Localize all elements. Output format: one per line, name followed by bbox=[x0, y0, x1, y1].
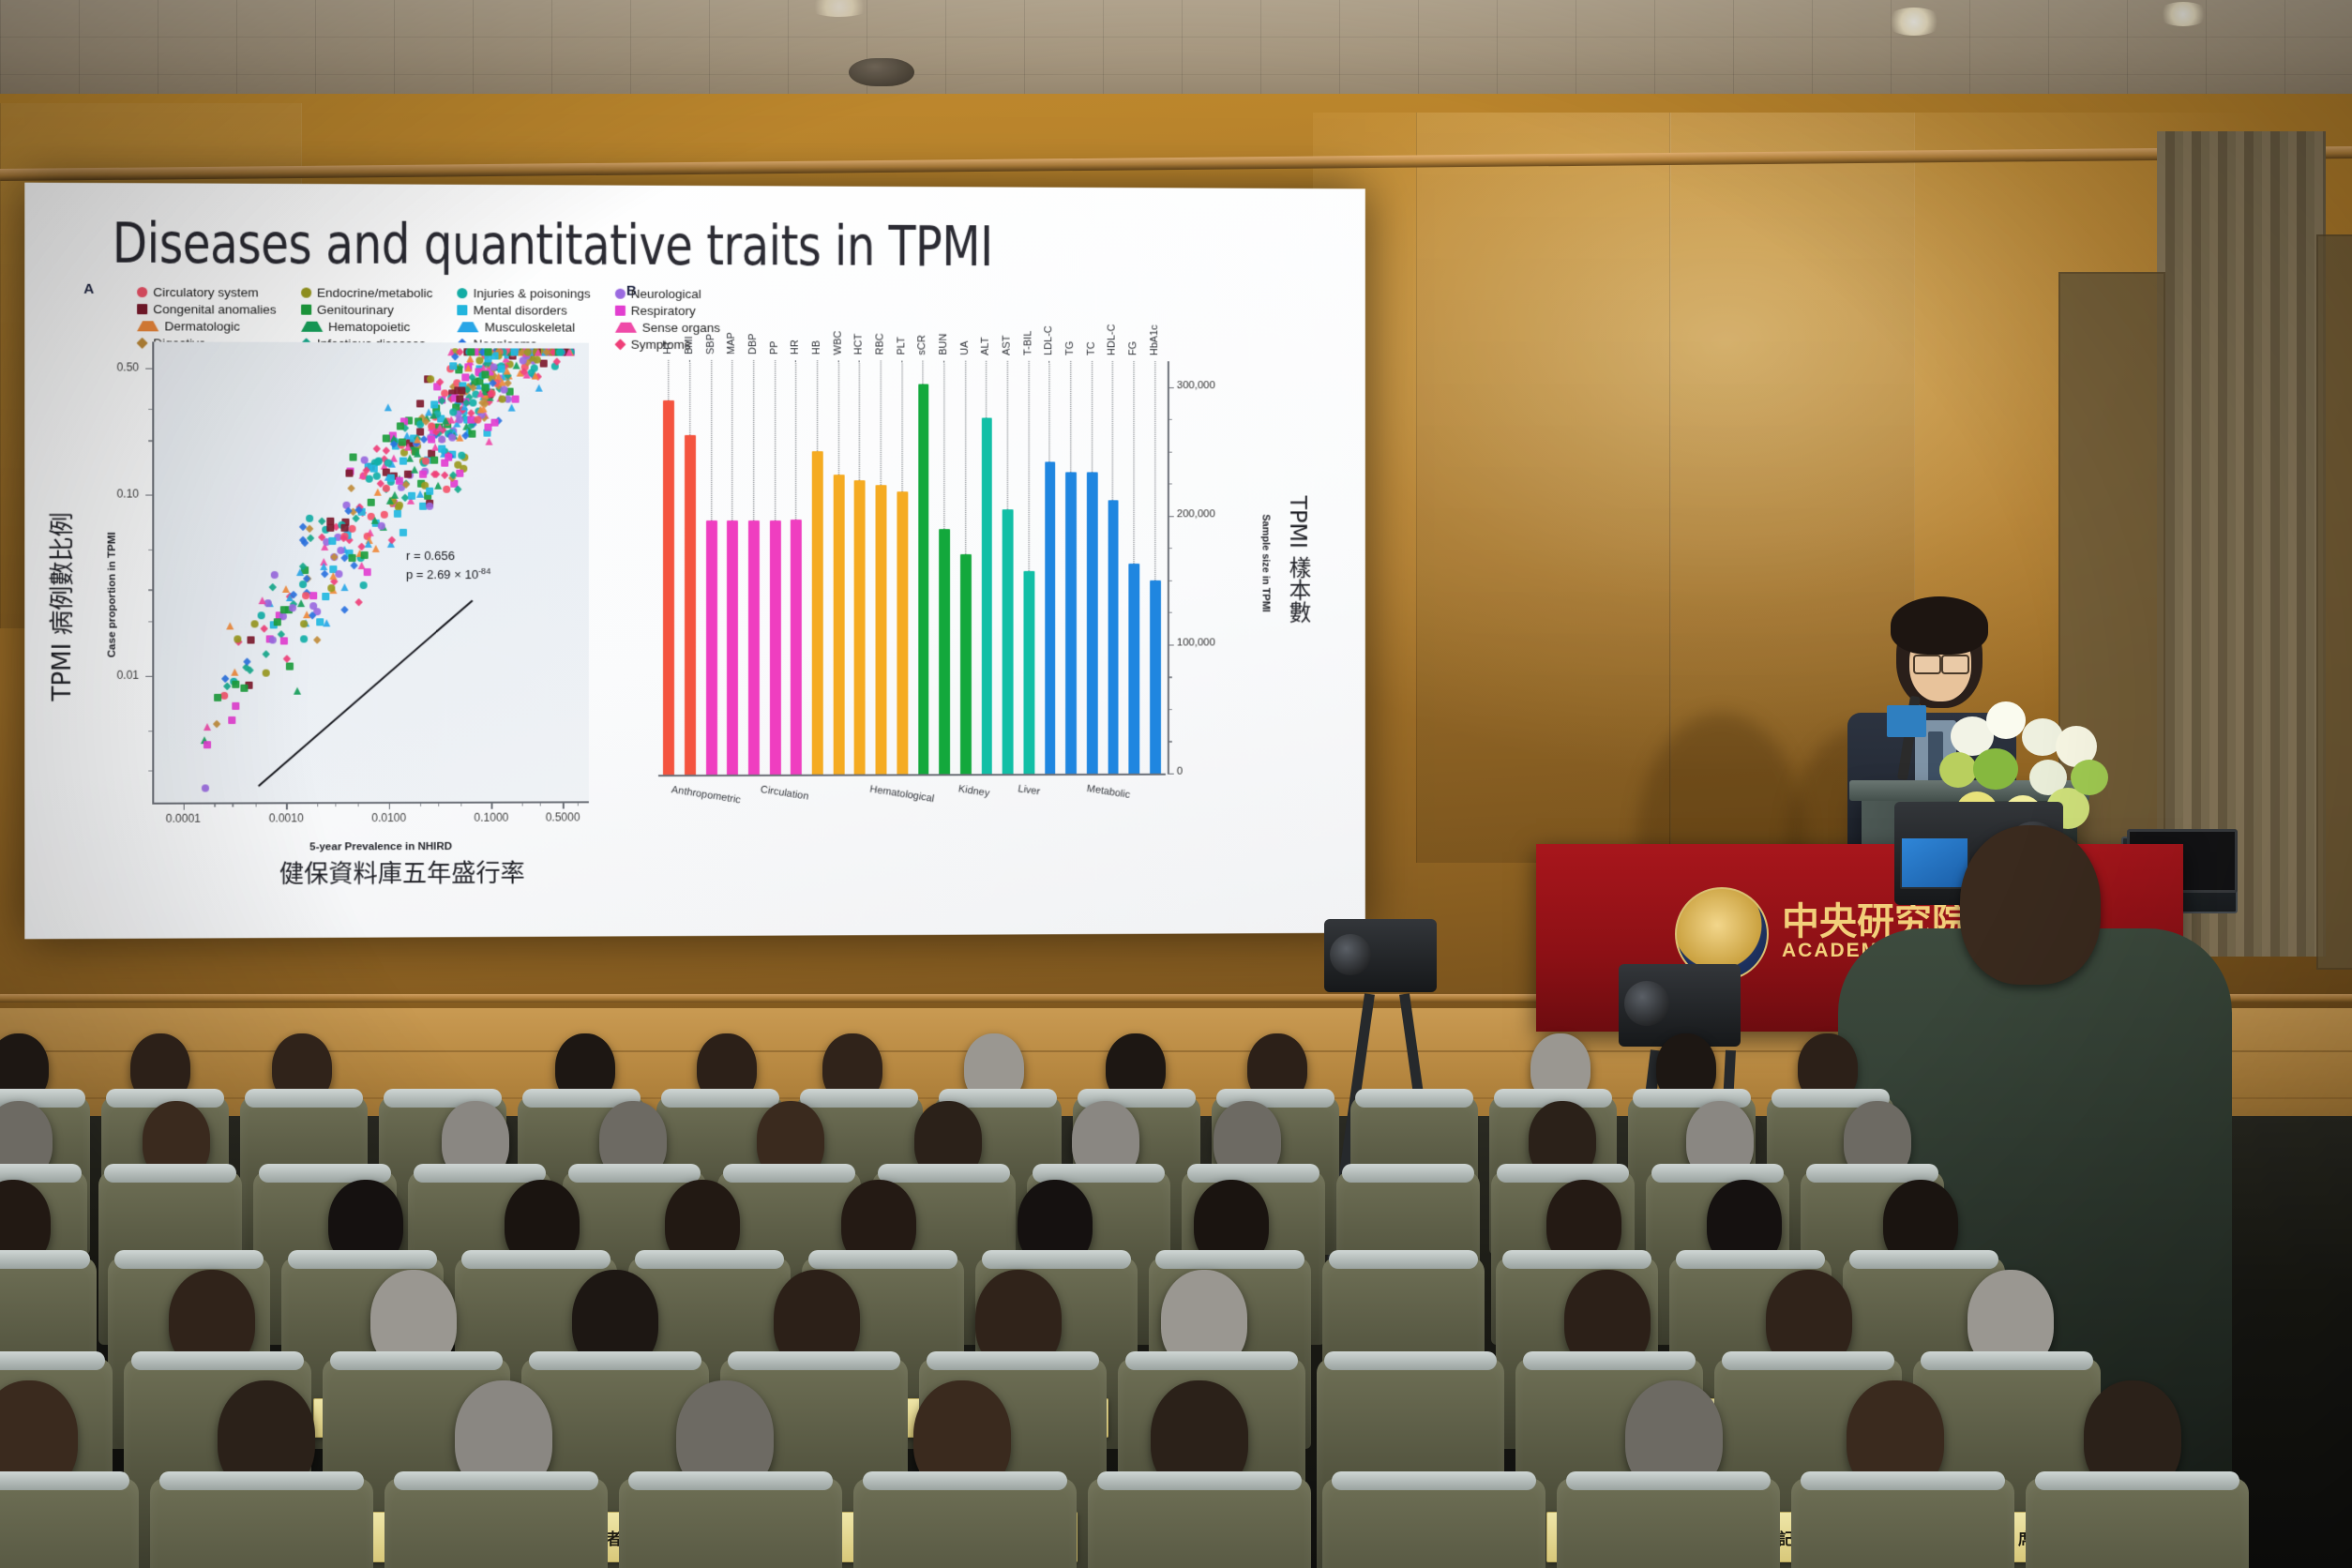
y-tick bbox=[145, 495, 153, 496]
bar-label: FG bbox=[1128, 341, 1139, 355]
bar-leader-line bbox=[817, 360, 818, 451]
bar-y-tick-label: 300,000 bbox=[1177, 380, 1215, 391]
scatter-point bbox=[269, 583, 278, 592]
scatter-point bbox=[450, 408, 458, 415]
y-axis-title-en-b: Sample size in TPMI bbox=[1260, 514, 1272, 611]
bar-leader-line bbox=[965, 361, 966, 555]
legend-item: Endocrine/metabolic bbox=[301, 286, 432, 301]
bar-y-minor-tick bbox=[1168, 548, 1172, 549]
bar bbox=[1108, 501, 1119, 774]
scatter-point bbox=[259, 596, 266, 604]
scatter-point bbox=[368, 499, 375, 506]
bar bbox=[812, 451, 823, 775]
legend-symbol-circle-icon bbox=[457, 289, 467, 299]
bar-y-tick bbox=[1168, 774, 1174, 775]
legend-symbol-triangle-icon bbox=[137, 322, 158, 332]
p-value: p = 2.69 × 10-84 bbox=[406, 565, 490, 584]
seat-headrest bbox=[159, 1471, 365, 1490]
scatter-point bbox=[414, 435, 421, 443]
bar-cell: HCT bbox=[850, 360, 871, 774]
audience-seat bbox=[384, 1478, 608, 1568]
bar-cell: BUN bbox=[934, 361, 956, 775]
panel-a-label: A bbox=[83, 281, 94, 297]
seat-headrest bbox=[863, 1471, 1068, 1490]
scatter-point bbox=[466, 355, 474, 363]
conference-hall-photo: Diseases and quantitative traits in TPMI… bbox=[0, 0, 2352, 1568]
bar-cell: RBC bbox=[870, 360, 892, 774]
audience-seat bbox=[1322, 1478, 1545, 1568]
bar-group-label: Hematological bbox=[868, 783, 934, 805]
scatter-point bbox=[490, 363, 497, 370]
scatter-point bbox=[383, 434, 390, 442]
bar-leader-line bbox=[689, 360, 690, 435]
scatter-point bbox=[384, 403, 392, 411]
bar-leader-line bbox=[901, 361, 902, 491]
scatter-point bbox=[508, 403, 516, 411]
y-tick bbox=[145, 369, 153, 369]
bar-label: HB bbox=[811, 340, 822, 354]
y-minor-tick bbox=[148, 440, 153, 441]
seat-headrest bbox=[245, 1089, 362, 1108]
x-tick bbox=[389, 802, 390, 809]
scatter-point bbox=[282, 585, 290, 593]
scatter-point bbox=[438, 435, 445, 443]
bar-y-tick bbox=[1168, 644, 1174, 645]
scatter-point bbox=[436, 423, 444, 430]
bar-label: PLT bbox=[896, 337, 907, 354]
y-tick-label: 0.01 bbox=[87, 669, 139, 682]
scatter-point bbox=[327, 524, 335, 532]
scatter-point bbox=[316, 618, 324, 626]
y-minor-tick bbox=[148, 590, 153, 591]
scatter-point bbox=[430, 400, 438, 408]
scatter-point bbox=[461, 374, 469, 382]
x-axis-title-cn-a: 健保資料庫五年盛行率 bbox=[279, 854, 525, 890]
seat-headrest bbox=[1355, 1089, 1472, 1108]
seat-headrest bbox=[1651, 1164, 1784, 1183]
legend-item: Dermatologic bbox=[137, 319, 277, 334]
seat-headrest bbox=[114, 1250, 264, 1269]
scatter-point bbox=[228, 716, 235, 724]
bar bbox=[1065, 472, 1077, 774]
scatter-point bbox=[296, 568, 304, 576]
bar-y-tick-label: 100,000 bbox=[1177, 637, 1215, 648]
y-minor-tick bbox=[148, 771, 153, 772]
bar-leader-line bbox=[1092, 361, 1093, 472]
scatter-point bbox=[535, 384, 543, 392]
audience-seat bbox=[853, 1478, 1077, 1568]
scatter-point bbox=[372, 445, 381, 454]
seat-headrest bbox=[927, 1351, 1099, 1370]
bar-cell: TC bbox=[1081, 361, 1102, 774]
flower bbox=[1939, 752, 1977, 788]
legend-symbol-circle-icon bbox=[137, 287, 147, 297]
legend-symbol-circle-icon bbox=[615, 289, 626, 299]
flower bbox=[1986, 701, 2026, 739]
scatter-point bbox=[286, 594, 294, 601]
bar-leader-line bbox=[1028, 361, 1029, 571]
scatter-point bbox=[408, 491, 415, 499]
slide-content: Diseases and quantitative traits in TPMI… bbox=[24, 183, 1365, 940]
camera-operator-head bbox=[1960, 825, 2101, 985]
seat-headrest bbox=[0, 1351, 105, 1370]
bar-y-axis-line bbox=[1168, 361, 1168, 773]
scatter-point bbox=[286, 662, 294, 670]
scatter-point bbox=[481, 384, 489, 392]
scatter-point bbox=[340, 606, 349, 614]
bar-chart-panel-b: HTBMISBPMAPDBPPPHRHBWBCHCTRBCPLTsCRBUNUA… bbox=[649, 343, 1227, 831]
scatter-point bbox=[444, 486, 451, 493]
bar-leader-line bbox=[881, 360, 882, 484]
bar-y-tick-label: 0 bbox=[1177, 766, 1183, 777]
bar-cell: HDL-C bbox=[1103, 361, 1123, 774]
slide-title: Diseases and quantitative traits in TPMI bbox=[113, 211, 993, 279]
seat-headrest bbox=[1342, 1164, 1474, 1183]
x-minor-tick bbox=[358, 802, 359, 807]
seat-headrest bbox=[461, 1250, 611, 1269]
bar-group-label: Kidney bbox=[957, 783, 990, 799]
scatter-point bbox=[458, 386, 465, 394]
scatter-point bbox=[449, 362, 457, 369]
scatter-plot-panel-a: 0.500.100.01 0.00010.00100.01000.10000.5… bbox=[116, 341, 589, 833]
scatter-point bbox=[467, 348, 475, 355]
scatter-point bbox=[486, 438, 493, 445]
y-axis-line bbox=[152, 341, 154, 802]
audience-seat bbox=[619, 1478, 842, 1568]
scatter-point bbox=[391, 491, 399, 499]
bar-group-label: Anthropometric bbox=[671, 784, 742, 806]
ceiling-light bbox=[1885, 8, 1943, 36]
y-axis-title-en-a: Case proportion in TPMI bbox=[107, 532, 118, 657]
seat-headrest bbox=[1332, 1471, 1537, 1490]
audience-seat bbox=[150, 1478, 373, 1568]
scatter-point bbox=[202, 785, 209, 792]
bar-label: LDL-C bbox=[1044, 325, 1055, 355]
seat-headrest bbox=[628, 1471, 834, 1490]
bar-leader-line bbox=[1049, 361, 1050, 461]
seat-headrest bbox=[414, 1164, 546, 1183]
bar-cell: BMI bbox=[680, 360, 701, 775]
scatter-point bbox=[369, 465, 377, 473]
scatter-point bbox=[438, 445, 445, 453]
bar-leader-line bbox=[775, 360, 776, 520]
seat-headrest bbox=[723, 1164, 855, 1183]
seat-headrest bbox=[1801, 1471, 2006, 1490]
bar-cell: HR bbox=[786, 360, 807, 775]
legend-symbol-triangle-icon bbox=[615, 323, 637, 333]
bar bbox=[939, 529, 950, 775]
bar bbox=[1003, 509, 1014, 774]
seat-headrest bbox=[1502, 1250, 1651, 1269]
bar bbox=[685, 435, 696, 775]
x-minor-tick bbox=[420, 802, 421, 807]
bar-y-tick bbox=[1168, 516, 1174, 517]
bar bbox=[960, 554, 972, 774]
scatter-point bbox=[427, 488, 434, 495]
seat-headrest bbox=[1676, 1250, 1825, 1269]
speaker-hair bbox=[1891, 596, 1988, 655]
scatter-point bbox=[396, 476, 403, 484]
seat-headrest bbox=[635, 1250, 784, 1269]
seat-headrest bbox=[661, 1089, 778, 1108]
scatter-point bbox=[318, 517, 326, 525]
scatter-point bbox=[335, 570, 342, 578]
bar-y-minor-tick bbox=[1168, 709, 1172, 710]
bar-leader-line bbox=[1070, 361, 1071, 472]
legend-item: Congenital anomalies bbox=[137, 302, 277, 317]
scatter-point bbox=[248, 636, 255, 643]
flower bbox=[1973, 748, 2018, 790]
r-value: r = 0.656 bbox=[406, 548, 490, 565]
bar-y-minor-tick bbox=[1168, 419, 1172, 420]
seat-headrest bbox=[1329, 1250, 1478, 1269]
scatter-point bbox=[313, 637, 322, 645]
bar-cell: HB bbox=[807, 360, 829, 774]
scatter-point bbox=[458, 451, 465, 459]
scatter-point bbox=[232, 681, 239, 688]
seat-headrest bbox=[529, 1351, 701, 1370]
bar-label: UA bbox=[959, 340, 971, 354]
bar-label: TC bbox=[1086, 341, 1097, 355]
x-minor-tick bbox=[255, 802, 256, 807]
bar-y-minor-tick bbox=[1168, 612, 1172, 613]
bar-y-minor-tick bbox=[1168, 580, 1172, 581]
scatter-point bbox=[532, 371, 539, 379]
seat-headrest bbox=[568, 1164, 701, 1183]
scatter-point bbox=[512, 395, 520, 402]
scatter-point bbox=[274, 618, 281, 626]
bar-y-minor-tick bbox=[1168, 451, 1172, 452]
legend-symbol-square-icon bbox=[615, 306, 626, 316]
scatter-point bbox=[337, 547, 344, 554]
scatter-point bbox=[347, 485, 355, 493]
scatter-point bbox=[300, 635, 308, 642]
scatter-point bbox=[523, 349, 531, 356]
ceiling-light bbox=[2157, 2, 2209, 26]
bar-label: HbA1c bbox=[1149, 324, 1160, 355]
bar-leader-line bbox=[987, 361, 988, 418]
scatter-point bbox=[372, 545, 380, 552]
bar-label: HT bbox=[662, 340, 673, 354]
scatter-point bbox=[445, 453, 453, 460]
seat-headrest bbox=[0, 1471, 129, 1490]
x-tick-label: 0.5000 bbox=[530, 810, 596, 823]
bar-label: TG bbox=[1064, 341, 1076, 355]
scatter-point bbox=[289, 604, 296, 611]
bar bbox=[770, 520, 781, 774]
seat-headrest bbox=[1125, 1351, 1298, 1370]
scatter-point bbox=[364, 568, 371, 576]
scatter-point bbox=[257, 612, 264, 620]
seat-headrest bbox=[131, 1351, 304, 1370]
seat-headrest bbox=[394, 1471, 599, 1490]
scatter-point bbox=[261, 625, 269, 633]
seat-headrest bbox=[1921, 1351, 2093, 1370]
scatter-point bbox=[282, 655, 291, 663]
legend-symbol-circle-icon bbox=[301, 288, 311, 298]
legend-item: Hematopoietic bbox=[301, 320, 432, 335]
scatter-point bbox=[387, 474, 395, 481]
scatter-point bbox=[485, 349, 492, 356]
seat-headrest bbox=[2035, 1471, 2240, 1490]
bar-label: BMI bbox=[684, 336, 695, 354]
scatter-point bbox=[565, 349, 573, 356]
bar-cell: FG bbox=[1123, 361, 1144, 774]
bar-leader-line bbox=[1007, 361, 1008, 509]
legend-label: Genitourinary bbox=[317, 303, 394, 318]
scatter-point bbox=[394, 510, 401, 518]
scatter-point bbox=[358, 471, 366, 478]
bar bbox=[981, 417, 992, 774]
bar bbox=[897, 491, 908, 775]
bar-leader-line bbox=[1134, 361, 1135, 564]
seat-headrest bbox=[1497, 1164, 1629, 1183]
scatter-point bbox=[416, 490, 424, 498]
scatter-point bbox=[346, 470, 354, 477]
bar-label: SBP bbox=[705, 334, 716, 354]
x-tick-label: 0.1000 bbox=[459, 811, 524, 824]
scatter-point bbox=[427, 375, 434, 383]
audience-seat bbox=[2026, 1478, 2249, 1568]
bar-leader-line bbox=[732, 360, 733, 520]
scatter-point bbox=[380, 511, 387, 519]
x-tick bbox=[563, 801, 564, 808]
bar-leader-line bbox=[943, 361, 944, 529]
bar bbox=[1129, 564, 1140, 774]
scatter-point bbox=[321, 570, 329, 579]
bar-y-minor-tick bbox=[1168, 484, 1172, 485]
scatter-point bbox=[271, 571, 279, 579]
seat-headrest bbox=[288, 1250, 437, 1269]
scatter-point bbox=[456, 470, 463, 477]
bar-cell: sCR bbox=[912, 361, 934, 775]
scatter-point bbox=[361, 551, 369, 559]
scatter-point bbox=[384, 459, 391, 466]
x-minor-tick bbox=[233, 802, 234, 807]
legend-label: Neurological bbox=[631, 287, 701, 302]
legend-symbol-diamond-icon bbox=[614, 339, 626, 350]
scatter-point bbox=[449, 433, 457, 441]
seat-headrest bbox=[728, 1351, 900, 1370]
scatter-point bbox=[349, 554, 356, 562]
scatter-point bbox=[360, 581, 368, 589]
bar-cell: T-BIL bbox=[1018, 361, 1039, 774]
scatter-point bbox=[280, 637, 288, 644]
scatter-point bbox=[374, 489, 382, 496]
bar-cell: HT bbox=[658, 360, 680, 775]
legend-symbol-square-icon bbox=[301, 305, 311, 315]
seat-headrest bbox=[1523, 1351, 1696, 1370]
y-tick-label: 0.50 bbox=[87, 360, 139, 373]
legend-label: Mental disorders bbox=[474, 303, 567, 318]
camera-lens-icon bbox=[1624, 981, 1669, 1026]
audience-seat bbox=[1557, 1478, 1780, 1568]
scatter-point bbox=[422, 458, 430, 465]
legend-label: Endocrine/metabolic bbox=[317, 286, 432, 301]
seat-headrest bbox=[982, 1250, 1131, 1269]
scatter-point bbox=[425, 409, 432, 416]
scatter-point bbox=[481, 371, 489, 379]
scatter-point bbox=[397, 422, 404, 430]
x-minor-tick bbox=[438, 802, 439, 807]
glasses-icon bbox=[1913, 655, 1941, 674]
scatter-point bbox=[464, 364, 472, 371]
scatter-point bbox=[476, 406, 484, 414]
legend-label: Hematopoietic bbox=[328, 320, 410, 335]
scatter-point bbox=[428, 423, 435, 430]
scatter-point bbox=[221, 674, 230, 683]
x-tick bbox=[183, 803, 184, 810]
y-minor-tick bbox=[148, 731, 153, 731]
seat-headrest bbox=[878, 1164, 1010, 1183]
bar-leader-line bbox=[711, 360, 712, 520]
scatter-point bbox=[383, 485, 390, 492]
seat-headrest bbox=[1155, 1250, 1304, 1269]
scatter-point bbox=[226, 622, 234, 629]
audience-seat bbox=[0, 1478, 139, 1568]
legend-label: Dermatologic bbox=[164, 319, 239, 334]
bar-cell: SBP bbox=[701, 360, 722, 775]
bar-label: AST bbox=[1002, 335, 1013, 354]
legend-label: Musculoskeletal bbox=[485, 320, 575, 335]
scatter-point bbox=[361, 456, 369, 463]
bar-leader-line bbox=[1112, 361, 1113, 500]
y-tick-label: 0.10 bbox=[87, 488, 139, 501]
bar bbox=[791, 520, 802, 775]
bar-label: HR bbox=[790, 339, 801, 354]
x-tick bbox=[491, 802, 492, 809]
x-tick-label: 0.0010 bbox=[253, 811, 320, 824]
y-minor-tick bbox=[148, 622, 153, 623]
x-minor-tick bbox=[540, 802, 541, 807]
scatter-point bbox=[430, 457, 438, 464]
x-minor-tick bbox=[522, 802, 523, 807]
bar-label: HCT bbox=[853, 334, 865, 355]
seat-headrest bbox=[0, 1250, 90, 1269]
scatter-point bbox=[269, 636, 277, 643]
bar-cell: ALT bbox=[976, 361, 998, 774]
scatter-point bbox=[322, 593, 329, 600]
scatter-point bbox=[328, 537, 336, 545]
legend-item: Injuries & poisonings bbox=[457, 286, 590, 301]
bar-series: HTBMISBPMAPDBPPPHRHBWBCHCTRBCPLTsCRBUNUA… bbox=[658, 360, 1166, 775]
bar-y-minor-tick bbox=[1168, 677, 1172, 678]
scatter-point bbox=[411, 465, 418, 473]
x-minor-tick bbox=[578, 801, 579, 806]
bar-leader-line bbox=[795, 360, 796, 520]
scatter-point bbox=[327, 584, 335, 592]
bar-x-axis-line bbox=[658, 774, 1166, 776]
bar-group-label: Circulation bbox=[760, 784, 809, 803]
scatter-point bbox=[512, 361, 520, 369]
audience-seat bbox=[1791, 1478, 2014, 1568]
scatter-point bbox=[302, 592, 309, 599]
bar-label: sCR bbox=[917, 335, 928, 354]
scatter-point bbox=[220, 691, 228, 699]
bar-leader-line bbox=[1154, 361, 1155, 580]
scatter-point bbox=[540, 359, 548, 367]
scatter-point bbox=[474, 416, 481, 424]
scatter-point bbox=[400, 529, 407, 536]
camera-viewfinder bbox=[1900, 837, 1969, 889]
bar-label: HDL-C bbox=[1107, 324, 1118, 355]
legend-label: Congenital anomalies bbox=[153, 302, 276, 317]
bar-label: T-BIL bbox=[1022, 331, 1033, 355]
scatter-point bbox=[428, 435, 435, 443]
legend-item: Mental disorders bbox=[457, 303, 590, 318]
bar-label: DBP bbox=[747, 334, 759, 355]
scatter-point bbox=[377, 522, 384, 530]
